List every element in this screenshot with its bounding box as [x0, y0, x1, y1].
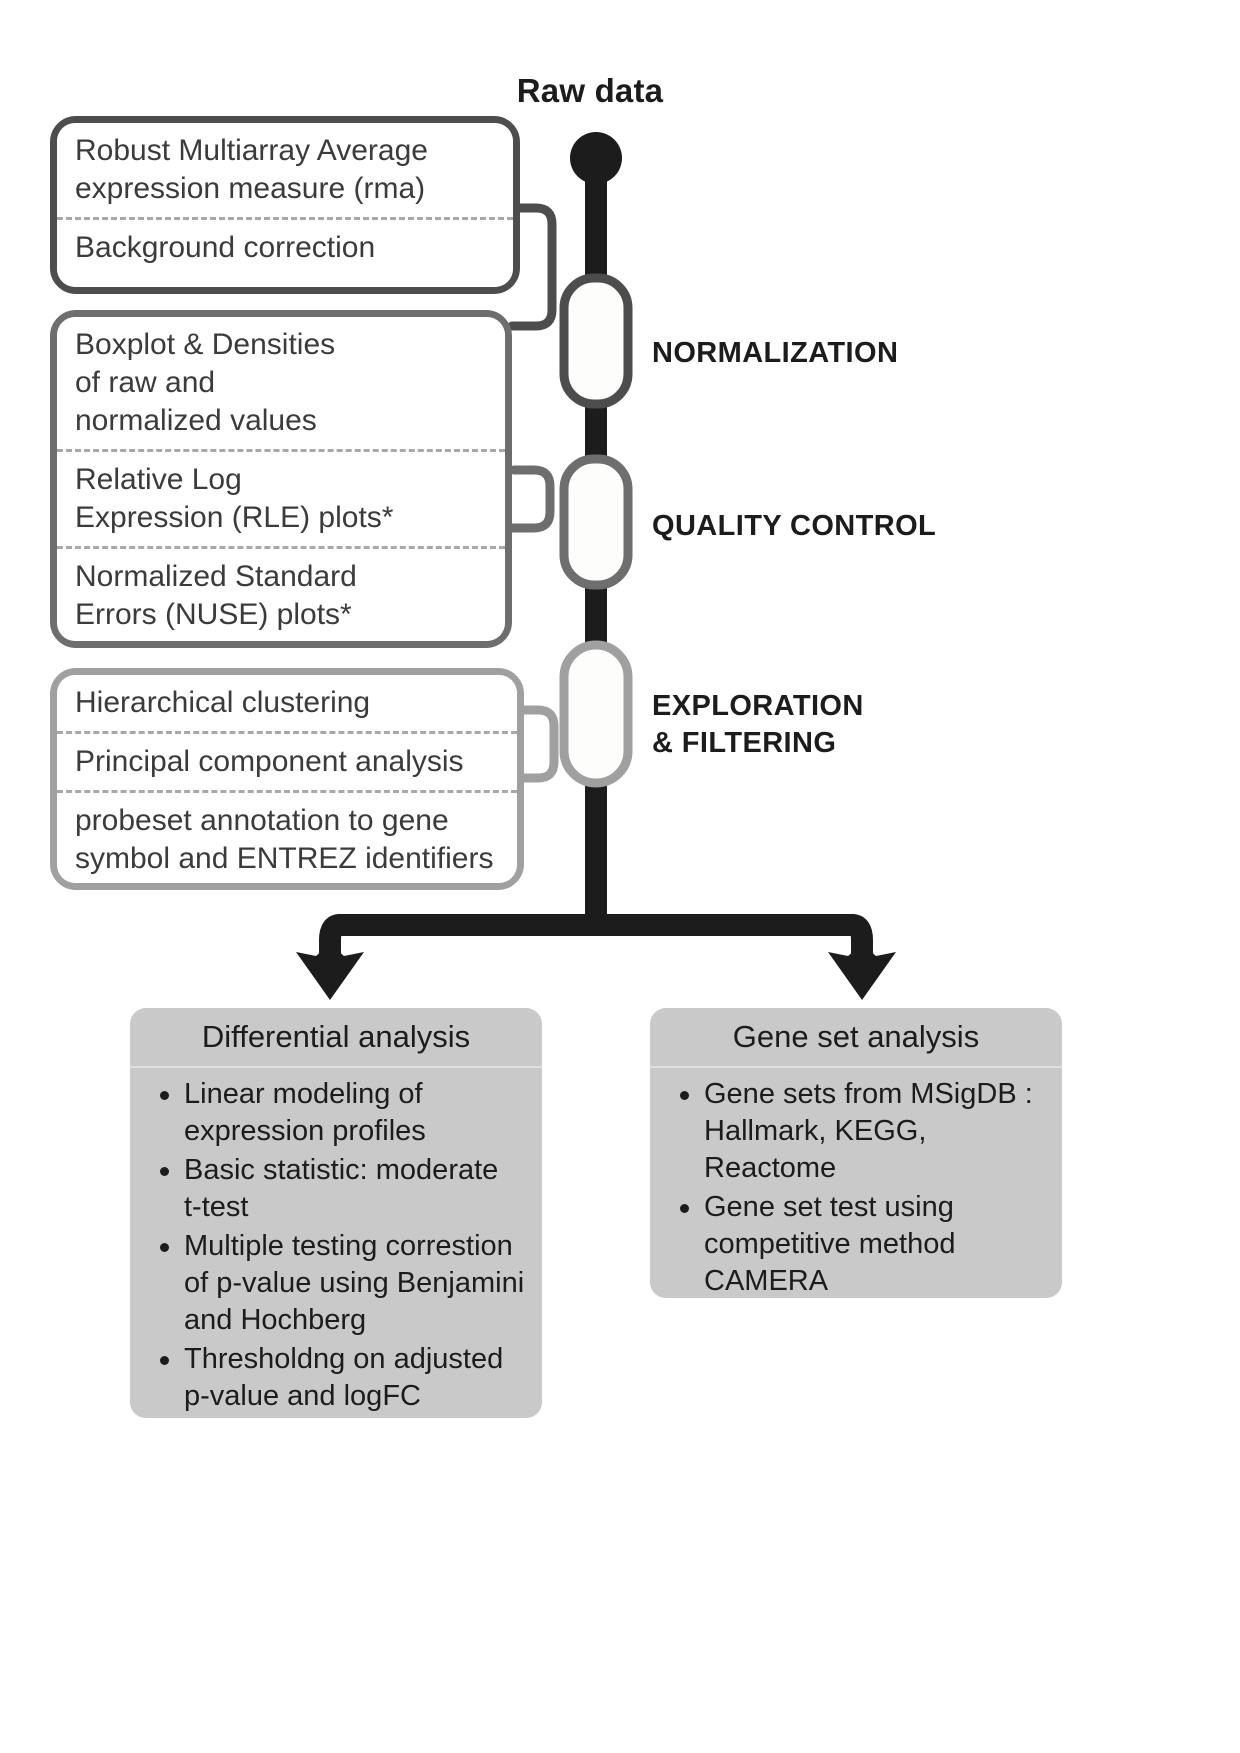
stage-row: probeset annotation to gene symbol and E…: [57, 790, 517, 883]
stage-card-exploration: Hierarchical clustering Principal compon…: [50, 668, 524, 890]
stage-label-quality-control: QUALITY CONTROL: [652, 508, 936, 545]
diagram-canvas: Raw data Robust Multiarray Average expre…: [0, 0, 1240, 1753]
arrow-to-differential: [296, 944, 364, 1000]
stage-row: Robust Multiarray Average expression mea…: [57, 123, 513, 217]
stage-label-exploration: EXPLORATION & FILTERING: [652, 688, 864, 762]
stage-node-quality-control: [564, 459, 628, 585]
stage-row: Background correction: [57, 217, 513, 276]
stage-row: Hierarchical clustering: [57, 675, 517, 731]
bullet-list: Gene sets from MSigDB : Hallmark, KEGG, …: [650, 1068, 1062, 1298]
list-item: Gene set test using competitive method C…: [678, 1189, 1046, 1298]
list-item: Multiple testing correstion of p-value u…: [158, 1228, 526, 1339]
panel-title: Differential analysis: [130, 1008, 542, 1068]
list-item: Gene sets from MSigDB : Hallmark, KEGG, …: [678, 1076, 1046, 1187]
bullet-list: Linear modeling of expression profiles B…: [130, 1068, 542, 1418]
stage-row: Boxplot & Densities of raw and normalize…: [57, 317, 505, 449]
panel-title: Gene set analysis: [650, 1008, 1062, 1068]
stage-card-normalization: Robust Multiarray Average expression mea…: [50, 116, 520, 294]
stage-row: Normalized Standard Errors (NUSE) plots*: [57, 546, 505, 641]
list-item: Linear modeling of expression profiles: [158, 1076, 526, 1150]
stage-row: Principal component analysis: [57, 731, 517, 790]
panel-differential-analysis: Differential analysis Linear modeling of…: [130, 1008, 542, 1418]
stage-row: Relative Log Expression (RLE) plots*: [57, 449, 505, 546]
stage-card-quality-control: Boxplot & Densities of raw and normalize…: [50, 310, 512, 648]
panel-gene-set-analysis: Gene set analysis Gene sets from MSigDB …: [650, 1008, 1062, 1298]
arrow-to-geneset: [828, 944, 896, 1000]
stage-label-normalization: NORMALIZATION: [652, 335, 898, 372]
list-item: Basic statistic: moderate t-test: [158, 1152, 526, 1226]
stage-node-exploration: [564, 645, 628, 783]
list-item: Thresholdng on adjusted p-value and logF…: [158, 1341, 526, 1415]
stage-node-normalization: [564, 278, 628, 404]
